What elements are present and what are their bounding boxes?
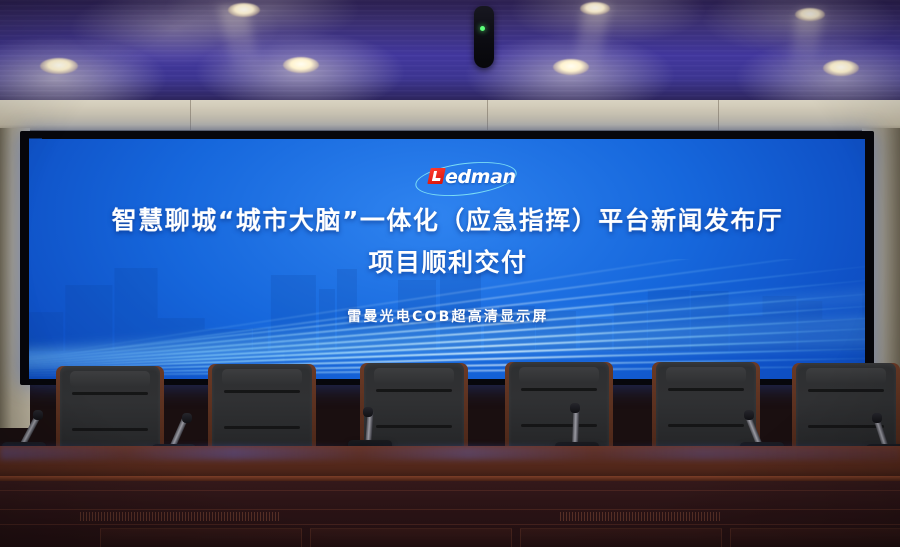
chair-highlight <box>374 368 454 384</box>
chair-seam <box>521 424 597 427</box>
mic-head-icon <box>182 413 192 423</box>
conference-room-photo: edman 智慧聊城“城市大脑”一体化（应急指挥）平台新闻发布厅 项目顺利交付 … <box>0 0 900 547</box>
chair-seam <box>72 392 148 395</box>
led-screen-bezel: edman 智慧聊城“城市大脑”一体化（应急指挥）平台新闻发布厅 项目顺利交付 … <box>20 131 874 385</box>
mic-head-icon <box>872 413 882 423</box>
mic-head-icon <box>363 407 373 417</box>
chair-seam <box>808 425 884 428</box>
logo-wordmark: edman <box>445 166 516 188</box>
ceiling-downlight <box>553 59 589 75</box>
soffit-seam <box>718 100 719 133</box>
chair-highlight <box>806 368 886 384</box>
screen-subline: 雷曼光电COB超高清显示屏 <box>29 306 865 326</box>
ceiling-camera-icon <box>474 6 494 68</box>
desk-panel-line <box>0 509 900 510</box>
screen-headline-line1: 智慧聊城“城市大脑”一体化（应急指挥）平台新闻发布厅 <box>29 201 865 237</box>
desk-front-panel <box>100 528 302 547</box>
desk-front-panel <box>730 528 900 547</box>
mic-head-icon <box>570 403 580 413</box>
chair-backrest <box>212 364 312 454</box>
conference-chair[interactable] <box>56 366 164 458</box>
chair-seam <box>808 389 884 392</box>
chair-seam <box>72 428 148 431</box>
ceiling-downlight <box>580 2 610 15</box>
chair-seam <box>521 388 597 391</box>
chair-seam <box>224 390 300 393</box>
chair-highlight <box>666 367 746 383</box>
ceiling-downlight <box>40 58 78 74</box>
screen-headline-line2: 项目顺利交付 <box>29 243 865 279</box>
conference-chair[interactable] <box>505 362 613 454</box>
desk-front-panel <box>520 528 722 547</box>
ceiling-texture <box>0 0 900 100</box>
chair-backrest <box>656 362 756 452</box>
desk-vent-grill <box>80 512 280 521</box>
soffit-seam <box>487 100 488 133</box>
chair-seam <box>668 424 744 427</box>
conference-chair[interactable] <box>208 364 316 456</box>
chair-highlight <box>222 369 302 385</box>
chair-backrest <box>509 362 609 452</box>
soffit-band <box>0 100 900 133</box>
desk-screen-reflection <box>0 446 900 460</box>
mic-head-icon <box>744 410 754 420</box>
desk-panel-line <box>0 490 900 491</box>
ceiling-downlight <box>823 60 859 76</box>
chair-seam <box>376 425 452 428</box>
ledman-logo: edman <box>415 157 515 199</box>
desk-vent-grill <box>560 512 720 521</box>
chair-seam <box>668 388 744 391</box>
ceiling <box>0 0 900 100</box>
chair-highlight <box>519 367 599 383</box>
desk-front-panel <box>310 528 512 547</box>
mic-head-icon <box>33 410 43 420</box>
ceiling-downlight <box>795 8 825 21</box>
chair-seam <box>376 389 452 392</box>
chair-highlight <box>70 371 150 387</box>
conference-chair[interactable] <box>652 362 760 454</box>
soffit-seam <box>190 100 191 133</box>
led-screen[interactable]: edman 智慧聊城“城市大脑”一体化（应急指挥）平台新闻发布厅 项目顺利交付 … <box>29 139 865 380</box>
ceiling-downlight <box>228 3 260 17</box>
chair-backrest <box>60 366 160 456</box>
ceiling-downlight <box>283 57 319 73</box>
chair-seam <box>224 426 300 429</box>
desk-panel-line <box>0 524 900 525</box>
